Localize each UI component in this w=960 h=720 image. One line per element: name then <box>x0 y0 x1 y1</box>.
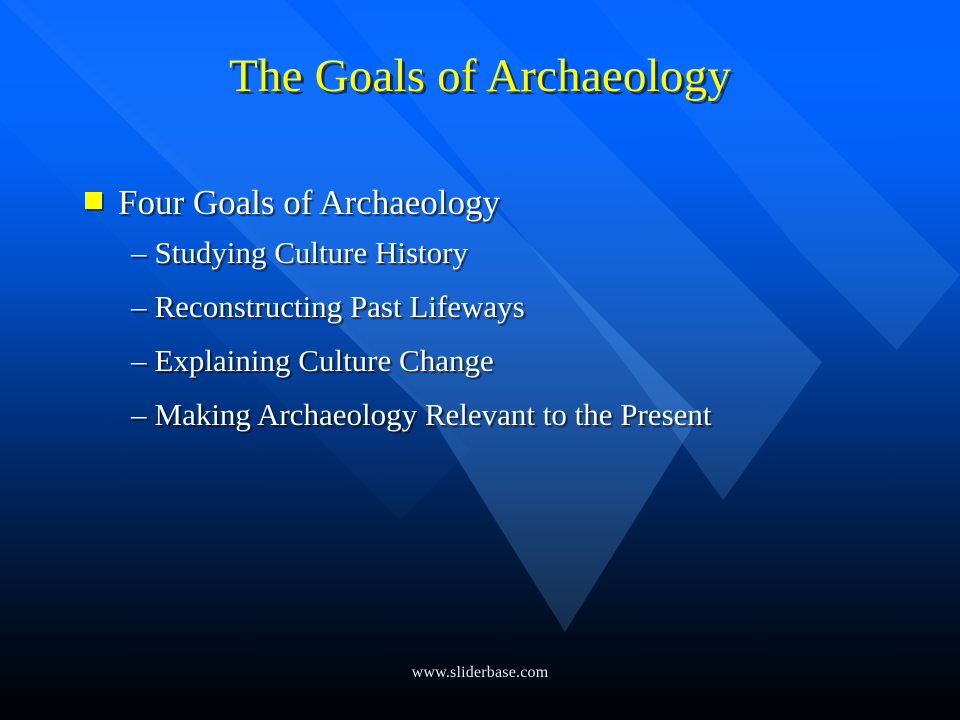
footer-watermark: www.sliderbase.com <box>0 664 960 682</box>
bullet-text: Studying Culture History <box>155 231 468 275</box>
slide-body: Four Goals of Archaeology – Studying Cul… <box>0 183 960 447</box>
dash-bullet-icon: – <box>131 393 147 437</box>
dash-bullet-icon: – <box>131 285 147 329</box>
bullet-item-level2: – Making Archaeology Relevant to the Pre… <box>0 393 960 447</box>
dash-bullet-icon: – <box>131 339 147 383</box>
bullet-item-level2: – Explaining Culture Change <box>0 339 960 393</box>
bullet-item-level1: Four Goals of Archaeology <box>0 183 960 223</box>
bullet-text: Four Goals of Archaeology <box>118 183 500 223</box>
bullet-text: Making Archaeology Relevant to the Prese… <box>155 393 712 437</box>
square-bullet-icon <box>85 192 102 209</box>
slide-title: The Goals of Archaeology <box>0 52 960 101</box>
bullet-item-level2: – Studying Culture History <box>0 231 960 285</box>
bullet-text: Reconstructing Past Lifeways <box>155 285 525 329</box>
bullet-text: Explaining Culture Change <box>155 339 494 383</box>
dash-bullet-icon: – <box>131 231 147 275</box>
bullet-item-level2: – Reconstructing Past Lifeways <box>0 285 960 339</box>
presentation-slide: The Goals of Archaeology Four Goals of A… <box>0 0 960 720</box>
